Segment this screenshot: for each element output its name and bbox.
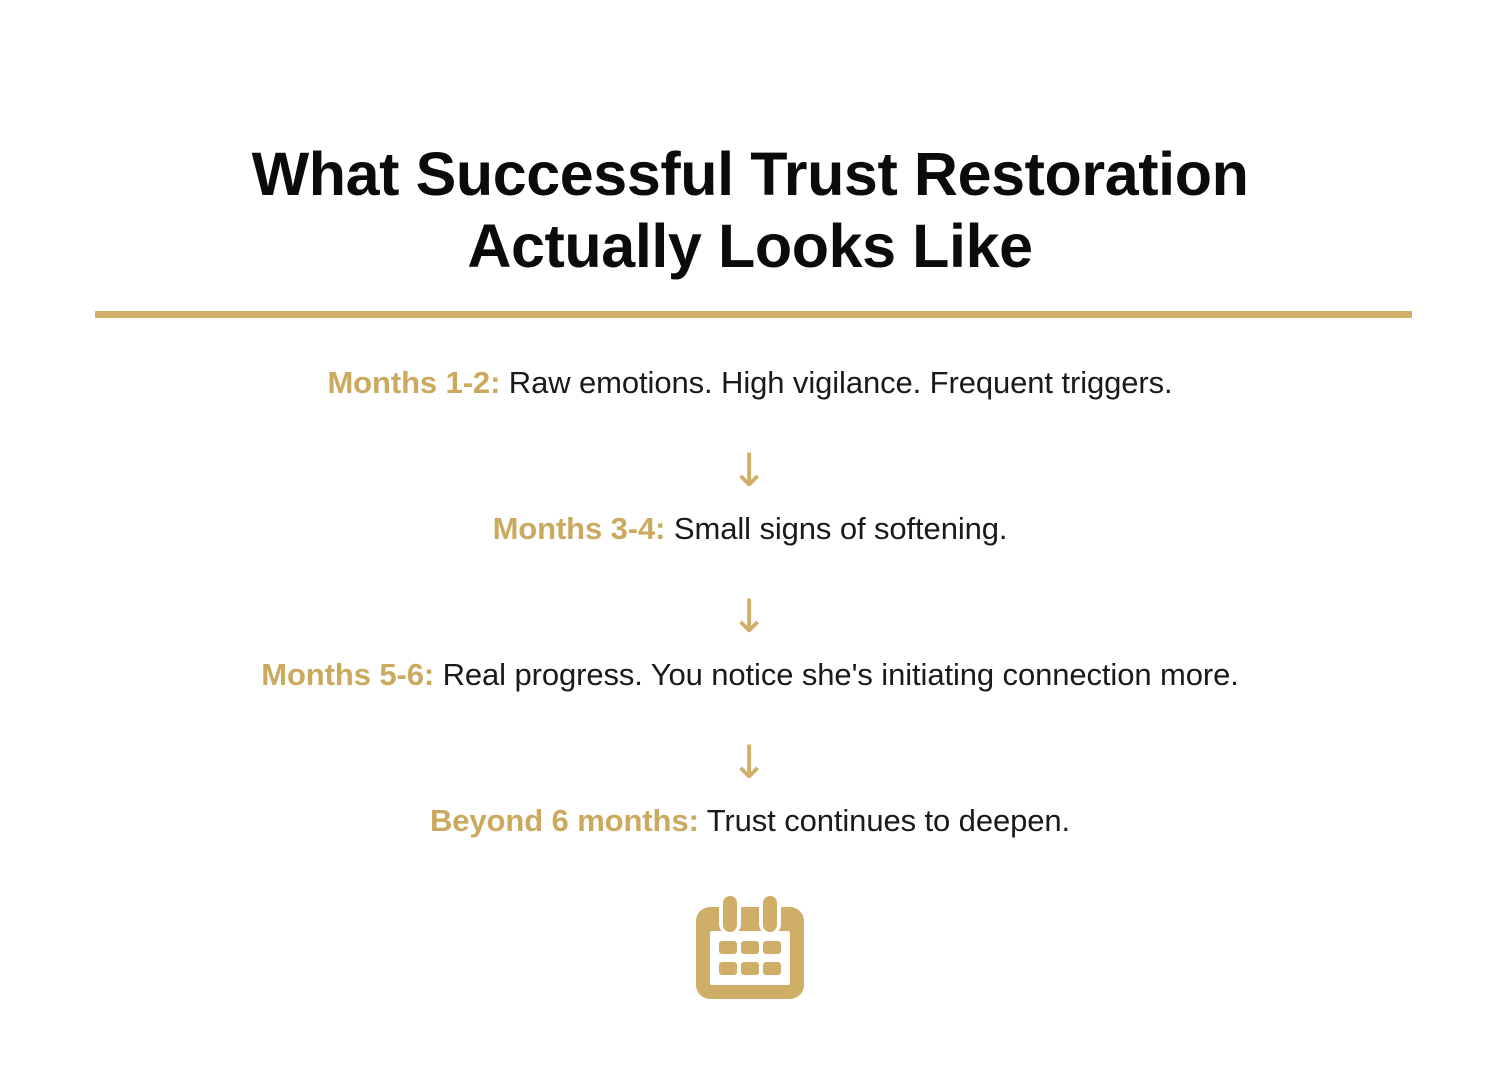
page-title: What Successful Trust Restoration Actual…	[0, 138, 1500, 282]
spacer	[0, 412, 1500, 434]
page-title-line-2: Actually Looks Like	[0, 210, 1500, 282]
timeline-step-4: Beyond 6 months: Trust continues to deep…	[0, 798, 1500, 850]
spacer	[0, 558, 1500, 580]
spacer	[0, 704, 1500, 726]
timeline-step-3-text: Real progress. You notice she's initiati…	[434, 657, 1239, 692]
timeline-connector-2: ↓	[0, 580, 1500, 652]
footer-icon-area	[0, 893, 1500, 1001]
timeline-step-3: Months 5-6: Real progress. You notice sh…	[0, 652, 1500, 704]
timeline-step-2-text: Small signs of softening.	[665, 511, 1007, 546]
timeline-connector-3: ↓	[0, 726, 1500, 798]
timeline-step-2: Months 3-4: Small signs of softening.	[0, 506, 1500, 558]
timeline-step-1-text: Raw emotions. High vigilance. Frequent t…	[500, 365, 1172, 400]
timeline-step-4-label: Beyond 6 months:	[430, 803, 699, 838]
timeline-list: Months 1-2: Raw emotions. High vigilance…	[0, 360, 1500, 850]
timeline-step-3-label: Months 5-6:	[261, 657, 434, 692]
timeline-step-1-label: Months 1-2:	[327, 365, 500, 400]
arrow-down-icon: ↓	[730, 434, 769, 506]
timeline-connector-1: ↓	[0, 434, 1500, 506]
timeline-step-4-text: Trust continues to deepen.	[699, 803, 1070, 838]
timeline-step-1: Months 1-2: Raw emotions. High vigilance…	[0, 360, 1500, 412]
infographic-canvas: What Successful Trust Restoration Actual…	[0, 0, 1500, 1080]
calendar-icon	[694, 893, 806, 1001]
timeline-step-2-label: Months 3-4:	[493, 511, 666, 546]
arrow-down-icon: ↓	[730, 580, 769, 652]
page-title-line-1: What Successful Trust Restoration	[0, 138, 1500, 210]
arrow-down-icon: ↓	[730, 726, 769, 798]
gold-divider-rule	[95, 311, 1412, 318]
